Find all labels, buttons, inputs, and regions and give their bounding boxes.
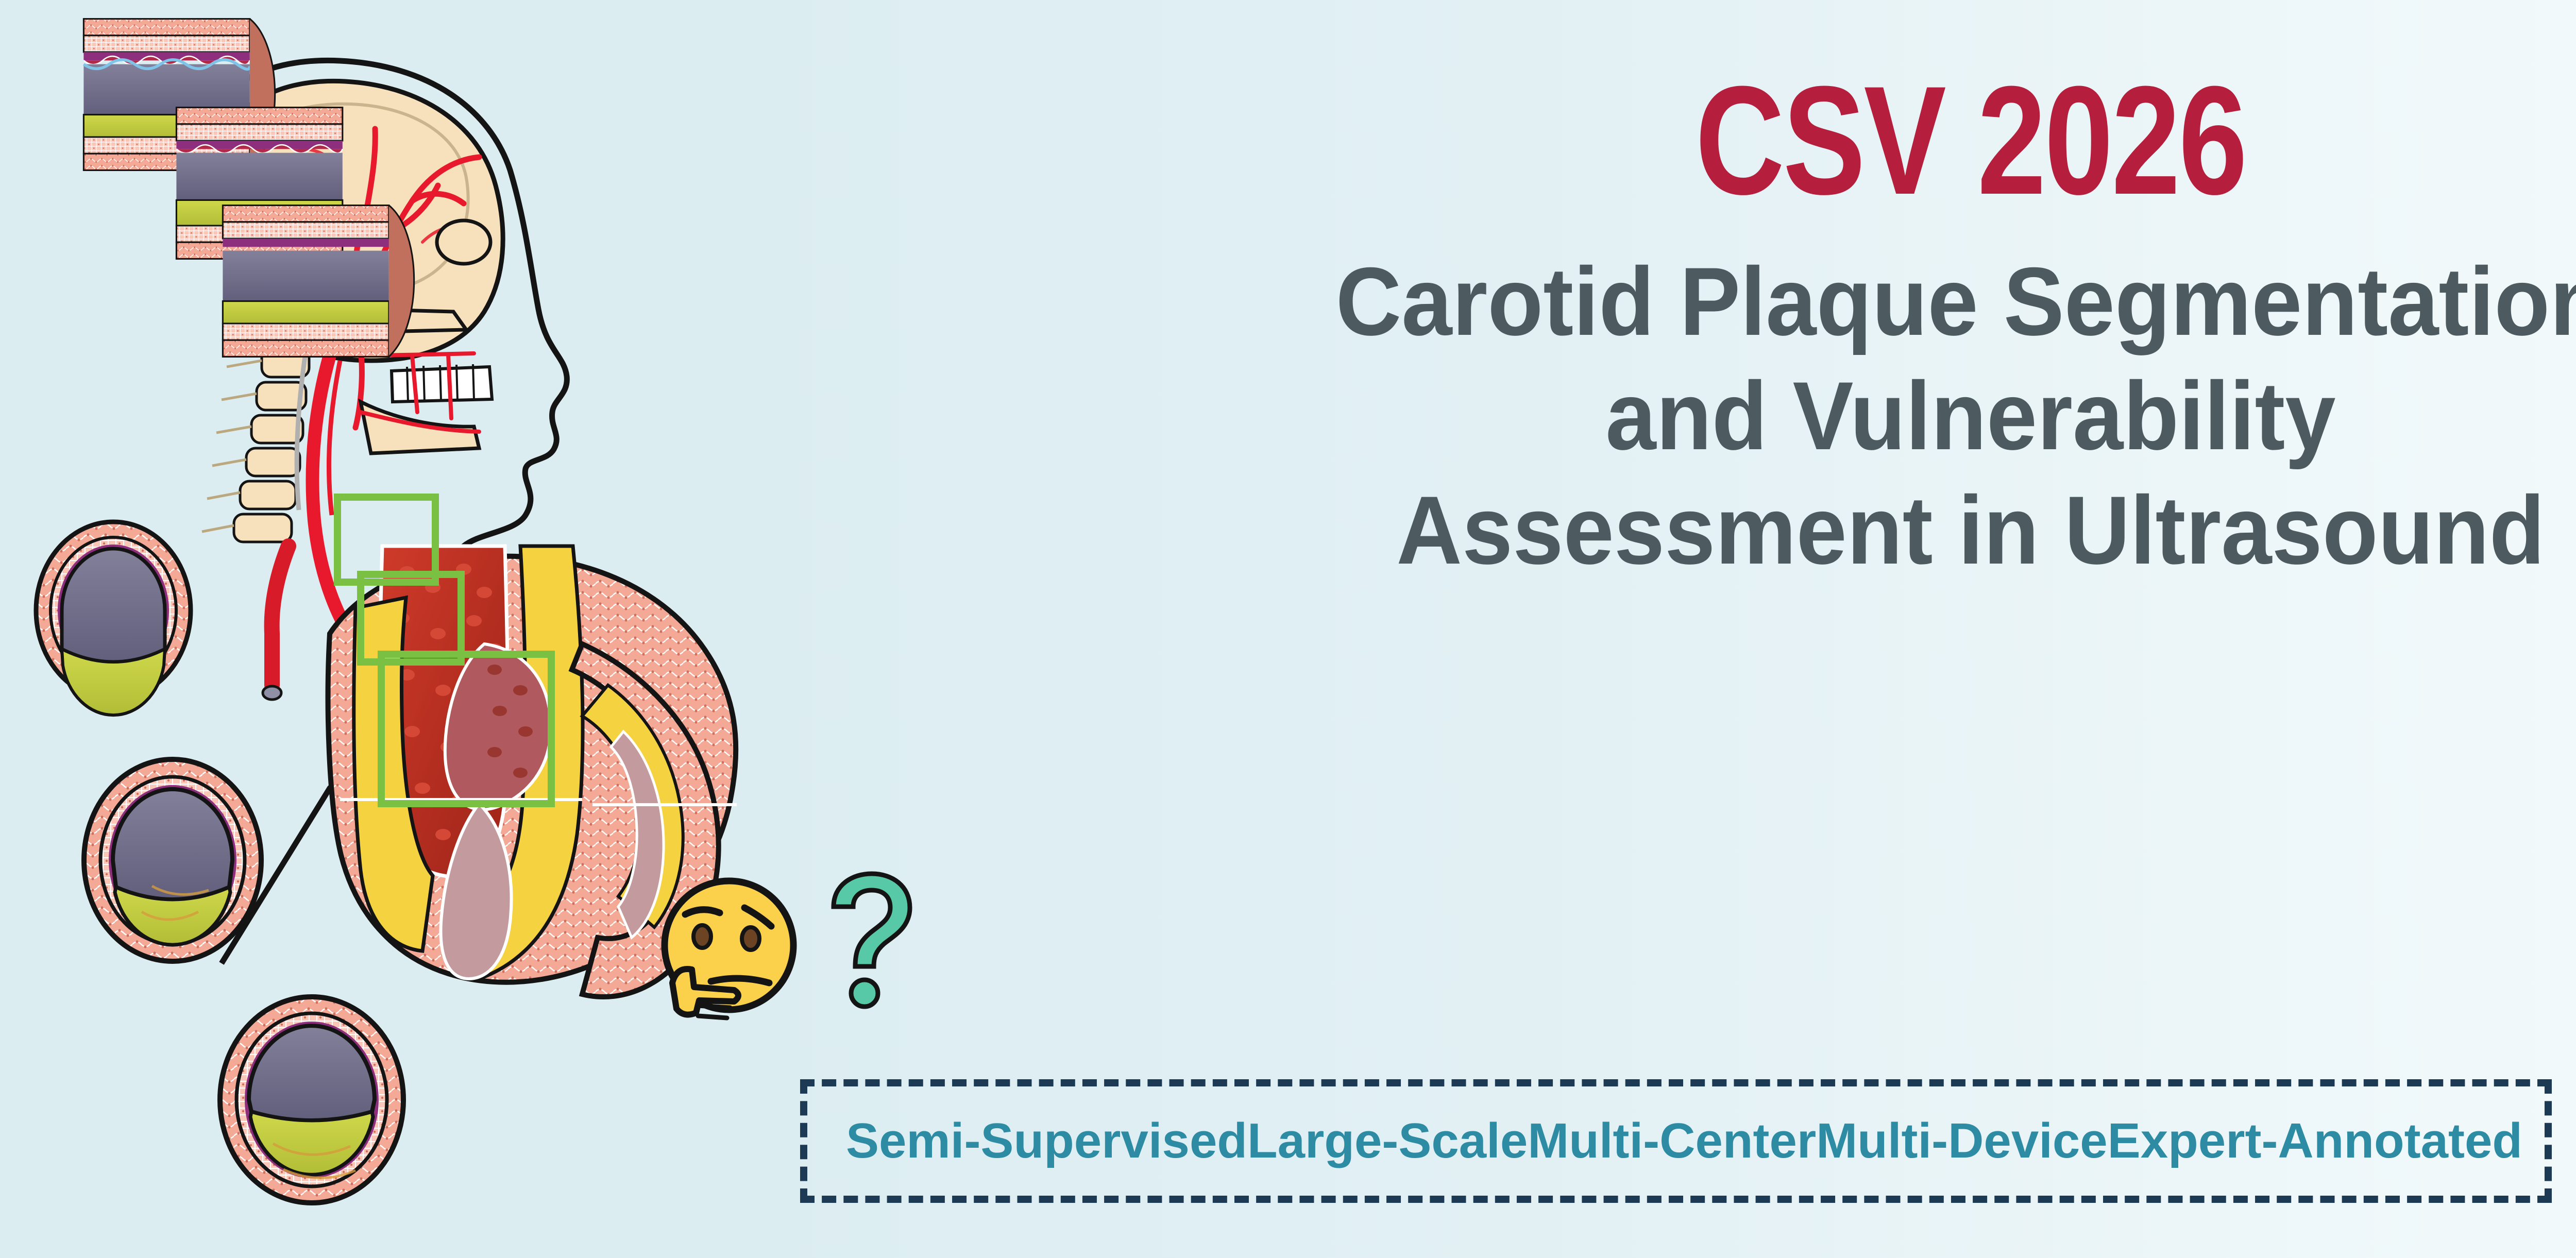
subtitle-line-1: Carotid Plaque Segmentation <box>1336 245 2576 359</box>
subtitle-line-2: and Vulnerability <box>1336 359 2576 473</box>
keyword-tag-bar: Semi-Supervised Large-Scale Multi-Center… <box>800 1079 2552 1203</box>
conference-banner: CSV 2026 Carotid Plaque Segmentation and… <box>0 0 2576 1258</box>
artery-cross-section-moderate <box>84 759 261 961</box>
vessel-wall-cutaway-small-3 <box>223 206 414 357</box>
keyword-multi-center: Multi-Center <box>1528 1113 1816 1169</box>
keyword-multi-device: Multi-Device <box>1816 1113 2107 1169</box>
thinking-face-emoji <box>665 881 793 1018</box>
artery-cross-section-mild <box>36 522 191 715</box>
keyword-large-scale: Large-Scale <box>1247 1113 1528 1169</box>
keyword-semi-supervised: Semi-Supervised <box>846 1113 1247 1169</box>
page-title: CSV 2026 <box>1696 67 2246 214</box>
banner-center-text: CSV 2026 Carotid Plaque Segmentation and… <box>979 0 2576 1258</box>
challenge-subtitle: Carotid Plaque Segmentation and Vulnerab… <box>1336 245 2576 587</box>
carotid-artery-anatomy-illustration <box>0 0 1108 1258</box>
question-mark-icon <box>834 874 910 1007</box>
artery-cross-section-severe <box>220 997 403 1203</box>
keyword-expert-annotated: Expert-Annotated <box>2108 1113 2522 1169</box>
subtitle-line-3: Assessment in Ultrasound <box>1336 473 2576 588</box>
